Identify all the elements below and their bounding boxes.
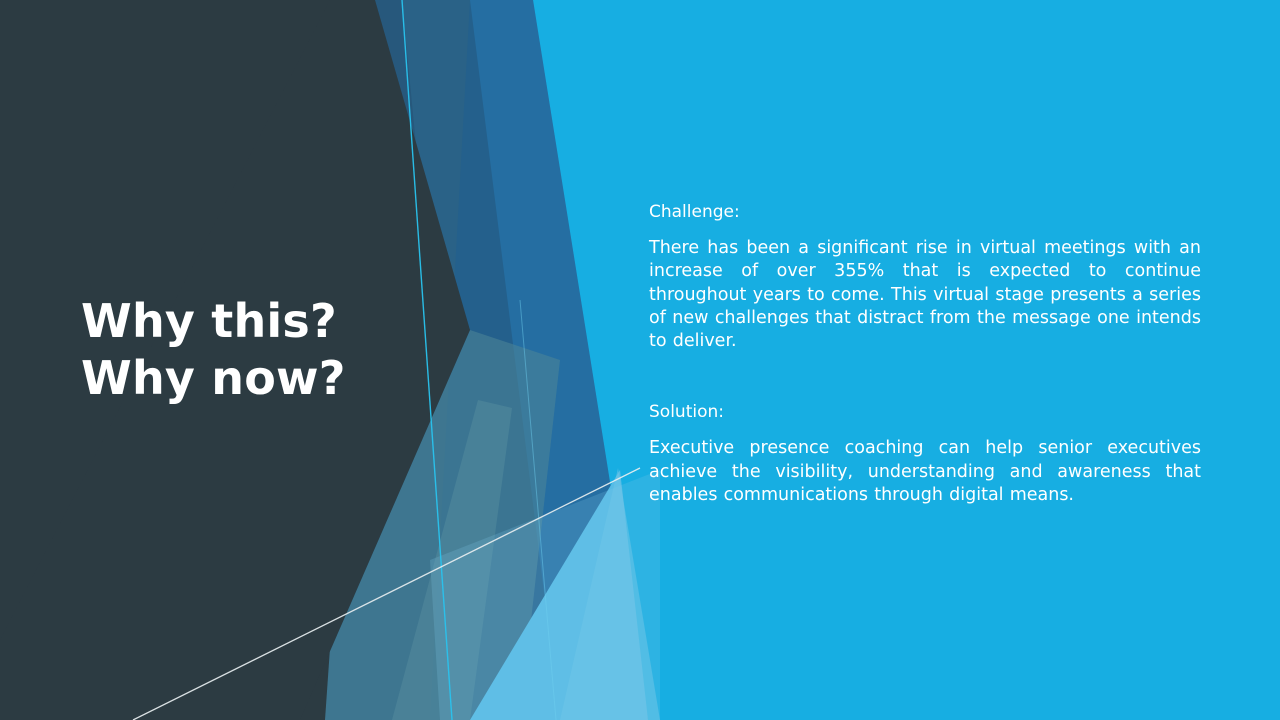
challenge-label: Challenge: xyxy=(649,201,1201,224)
challenge-paragraph: There has been a significant rise in vir… xyxy=(649,237,1201,353)
spacer-challenge xyxy=(649,224,1201,237)
slide-title: Why this? Why now? xyxy=(81,293,371,407)
spacer-sections xyxy=(649,353,1201,401)
solution-paragraph: Executive presence coaching can help sen… xyxy=(649,437,1201,507)
slide-body-content: Challenge: There has been a significant … xyxy=(649,201,1201,507)
spacer-solution xyxy=(649,424,1201,437)
title-line-1: Why this? xyxy=(81,293,371,350)
slide-canvas: Why this? Why now? Challenge: There has … xyxy=(0,0,1280,720)
solution-label: Solution: xyxy=(649,401,1201,424)
title-line-2: Why now? xyxy=(81,350,371,407)
